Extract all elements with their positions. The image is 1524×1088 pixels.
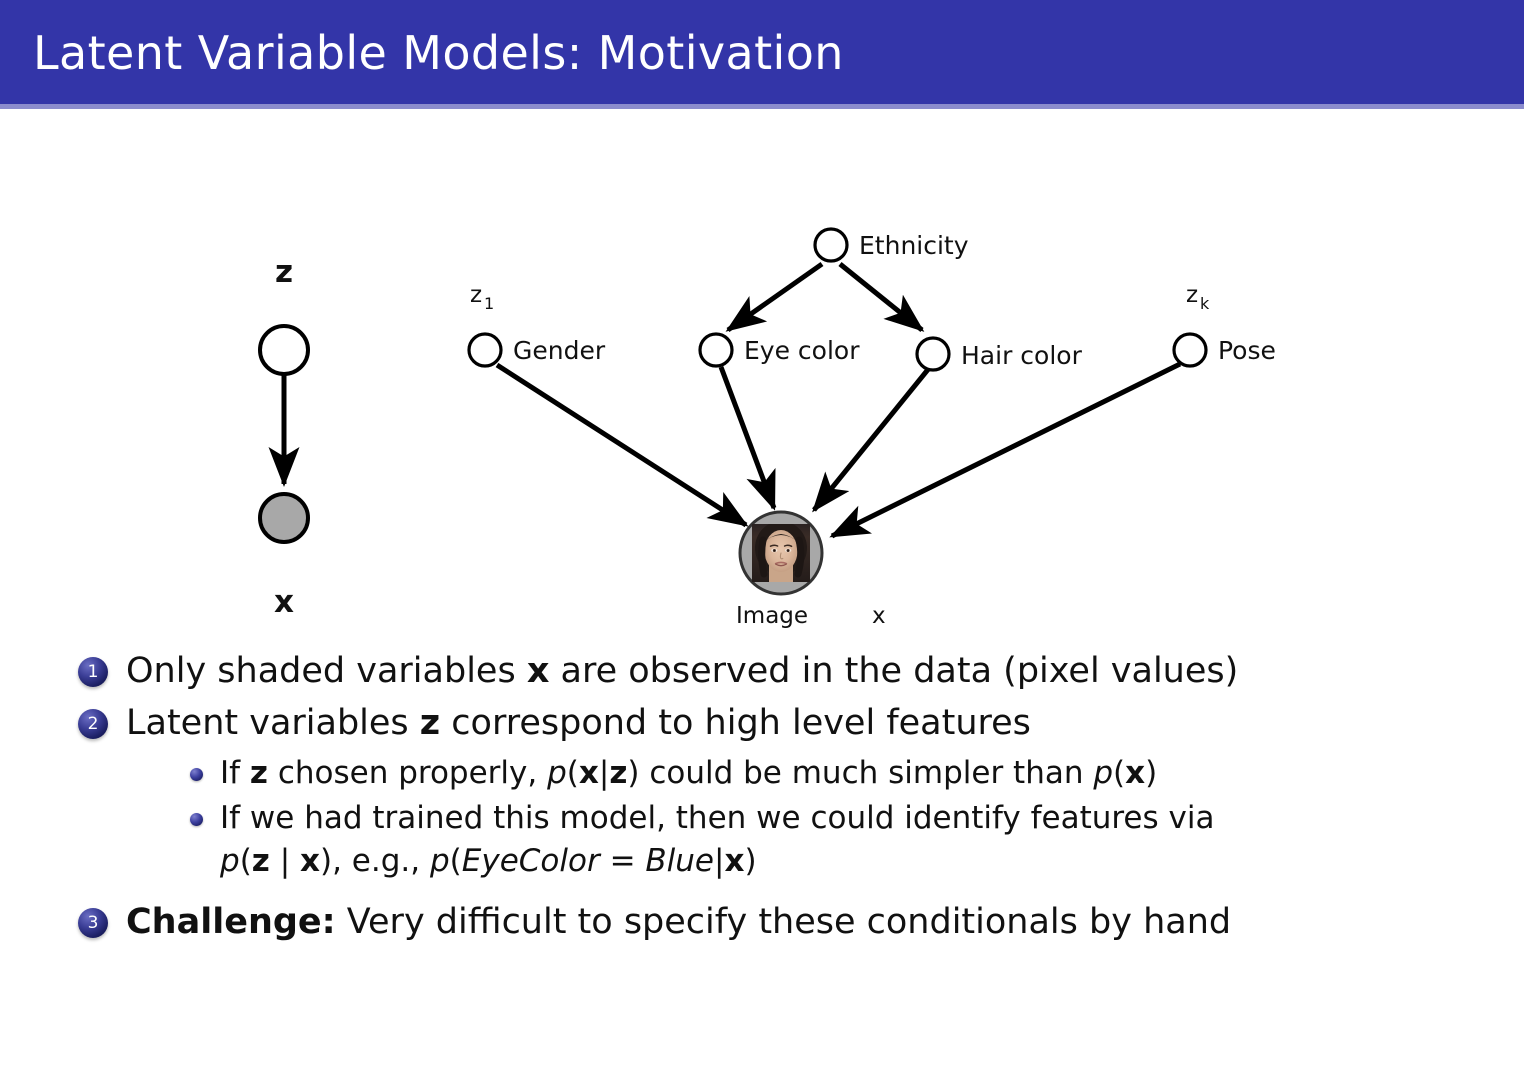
bullet-number-badge-2: 2 xyxy=(78,709,108,739)
s2-p-2: p xyxy=(430,843,450,879)
s2-blue: Blue xyxy=(645,843,714,879)
s2-var-x-2: x xyxy=(724,843,744,879)
node-ethnicity xyxy=(815,229,847,261)
s2-var-z: z xyxy=(252,843,270,879)
graphical-model-diagram: z x Ethnicity z 1 Gender xyxy=(0,112,1524,652)
left-graph-x-label: x xyxy=(274,584,294,620)
sub-bullet-dot-1 xyxy=(190,768,203,781)
edge-eye-color-to-image xyxy=(721,367,774,508)
s1-part-c: ) could be much simpler than xyxy=(627,755,1093,791)
s1-bar: | xyxy=(599,755,609,791)
s2-part-b: ), e.g., xyxy=(320,843,430,879)
face-thumbnail xyxy=(752,521,810,584)
s1-var-z: z xyxy=(250,755,268,791)
s1-var-x-1: x xyxy=(579,755,599,791)
b3-challenge-label: Challenge: xyxy=(126,902,336,942)
page-title: Latent Variable Models: Motivation xyxy=(33,26,844,80)
bullet-number-badge-3: 3 xyxy=(78,908,108,938)
node-ethnicity-label: Ethnicity xyxy=(859,231,969,260)
b2-var-z: z xyxy=(420,703,440,743)
left-graph-latent-node xyxy=(260,326,308,374)
edge-ethnicity-to-hair-color xyxy=(840,264,922,330)
node-pose-index-subscript: k xyxy=(1200,294,1210,313)
list-item: If z chosen properly, p(x|z) could be mu… xyxy=(0,752,1524,795)
list-item: 2 Latent variables z correspond to high … xyxy=(0,700,1524,746)
node-image-label: Image xyxy=(736,603,808,629)
b2-part-a: Latent variables xyxy=(126,703,420,743)
s1-part-b: chosen properly, xyxy=(268,755,547,791)
s2-part-a: If we had trained this model, then we co… xyxy=(220,800,1214,836)
bullet-3-text: Challenge: Very difficult to specify the… xyxy=(126,899,1524,945)
bullet-number-badge-1: 1 xyxy=(78,657,108,687)
edge-pose-to-image xyxy=(832,364,1180,536)
s2-equals: = xyxy=(600,843,646,879)
sub-bullet-1-text: If z chosen properly, p(x|z) could be mu… xyxy=(220,752,1524,795)
left-graph-z-label: z xyxy=(275,254,293,290)
right-graph-group: Ethnicity z 1 Gender Eye color Hair colo… xyxy=(469,229,1276,629)
node-gender-label: Gender xyxy=(513,336,606,365)
list-spacer xyxy=(0,885,1524,899)
bullet-1-text: Only shaded variables x are observed in … xyxy=(126,648,1524,694)
s1-close: ) xyxy=(1145,755,1157,791)
b3-rest: Very difficult to specify these conditio… xyxy=(336,902,1231,942)
s1-p-1: p xyxy=(547,755,567,791)
s2-var-x: x xyxy=(300,843,320,879)
s2-p-1: p xyxy=(220,843,240,879)
node-pose-label: Pose xyxy=(1218,336,1276,365)
s2-open-2: ( xyxy=(450,843,462,879)
b1-part-a: Only shaded variables xyxy=(126,651,527,691)
node-gender-index-label: z xyxy=(470,282,482,308)
s1-p-2: p xyxy=(1093,755,1113,791)
s1-open-2: ( xyxy=(1113,755,1125,791)
node-pose xyxy=(1174,334,1206,366)
b2-part-b: correspond to high level features xyxy=(440,703,1031,743)
left-graph-observed-node xyxy=(260,494,308,542)
s1-part-a: If xyxy=(220,755,250,791)
s2-bar-1: | xyxy=(270,843,300,879)
node-pose-index-label: z xyxy=(1186,282,1198,308)
edge-gender-to-image xyxy=(497,365,746,525)
s2-bar-2: | xyxy=(714,843,724,879)
s2-open-1: ( xyxy=(240,843,252,879)
s1-var-z-2: z xyxy=(609,755,627,791)
title-underline-rule xyxy=(0,104,1524,109)
node-gender-index-subscript: 1 xyxy=(484,294,494,313)
s2-close: ) xyxy=(744,843,756,879)
node-hair-color xyxy=(917,338,949,370)
s1-var-x-2: x xyxy=(1125,755,1145,791)
list-item: 1 Only shaded variables x are observed i… xyxy=(0,648,1524,694)
list-item: 3 Challenge: Very difficult to specify t… xyxy=(0,899,1524,945)
s2-eyecolor: EyeColor xyxy=(462,843,600,879)
sub-bullet-2-text: If we had trained this model, then we co… xyxy=(220,797,1390,883)
b1-part-b: are observed in the data (pixel values) xyxy=(549,651,1238,691)
bullet-2-text: Latent variables z correspond to high le… xyxy=(126,700,1524,746)
list-item: If we had trained this model, then we co… xyxy=(0,797,1524,883)
left-graph-group: z x xyxy=(260,254,308,620)
node-hair-color-label: Hair color xyxy=(961,341,1083,370)
node-eye-color xyxy=(700,334,732,366)
b1-var-x: x xyxy=(527,651,550,691)
s1-open-1: ( xyxy=(567,755,579,791)
node-image-var-label: x xyxy=(872,603,886,629)
edge-ethnicity-to-eye-color xyxy=(728,264,822,330)
bullet-list: 1 Only shaded variables x are observed i… xyxy=(0,648,1524,951)
node-gender xyxy=(469,334,501,366)
edge-hair-color-to-image xyxy=(814,367,930,510)
node-eye-color-label: Eye color xyxy=(744,336,860,365)
sub-bullet-dot-2 xyxy=(190,813,203,826)
